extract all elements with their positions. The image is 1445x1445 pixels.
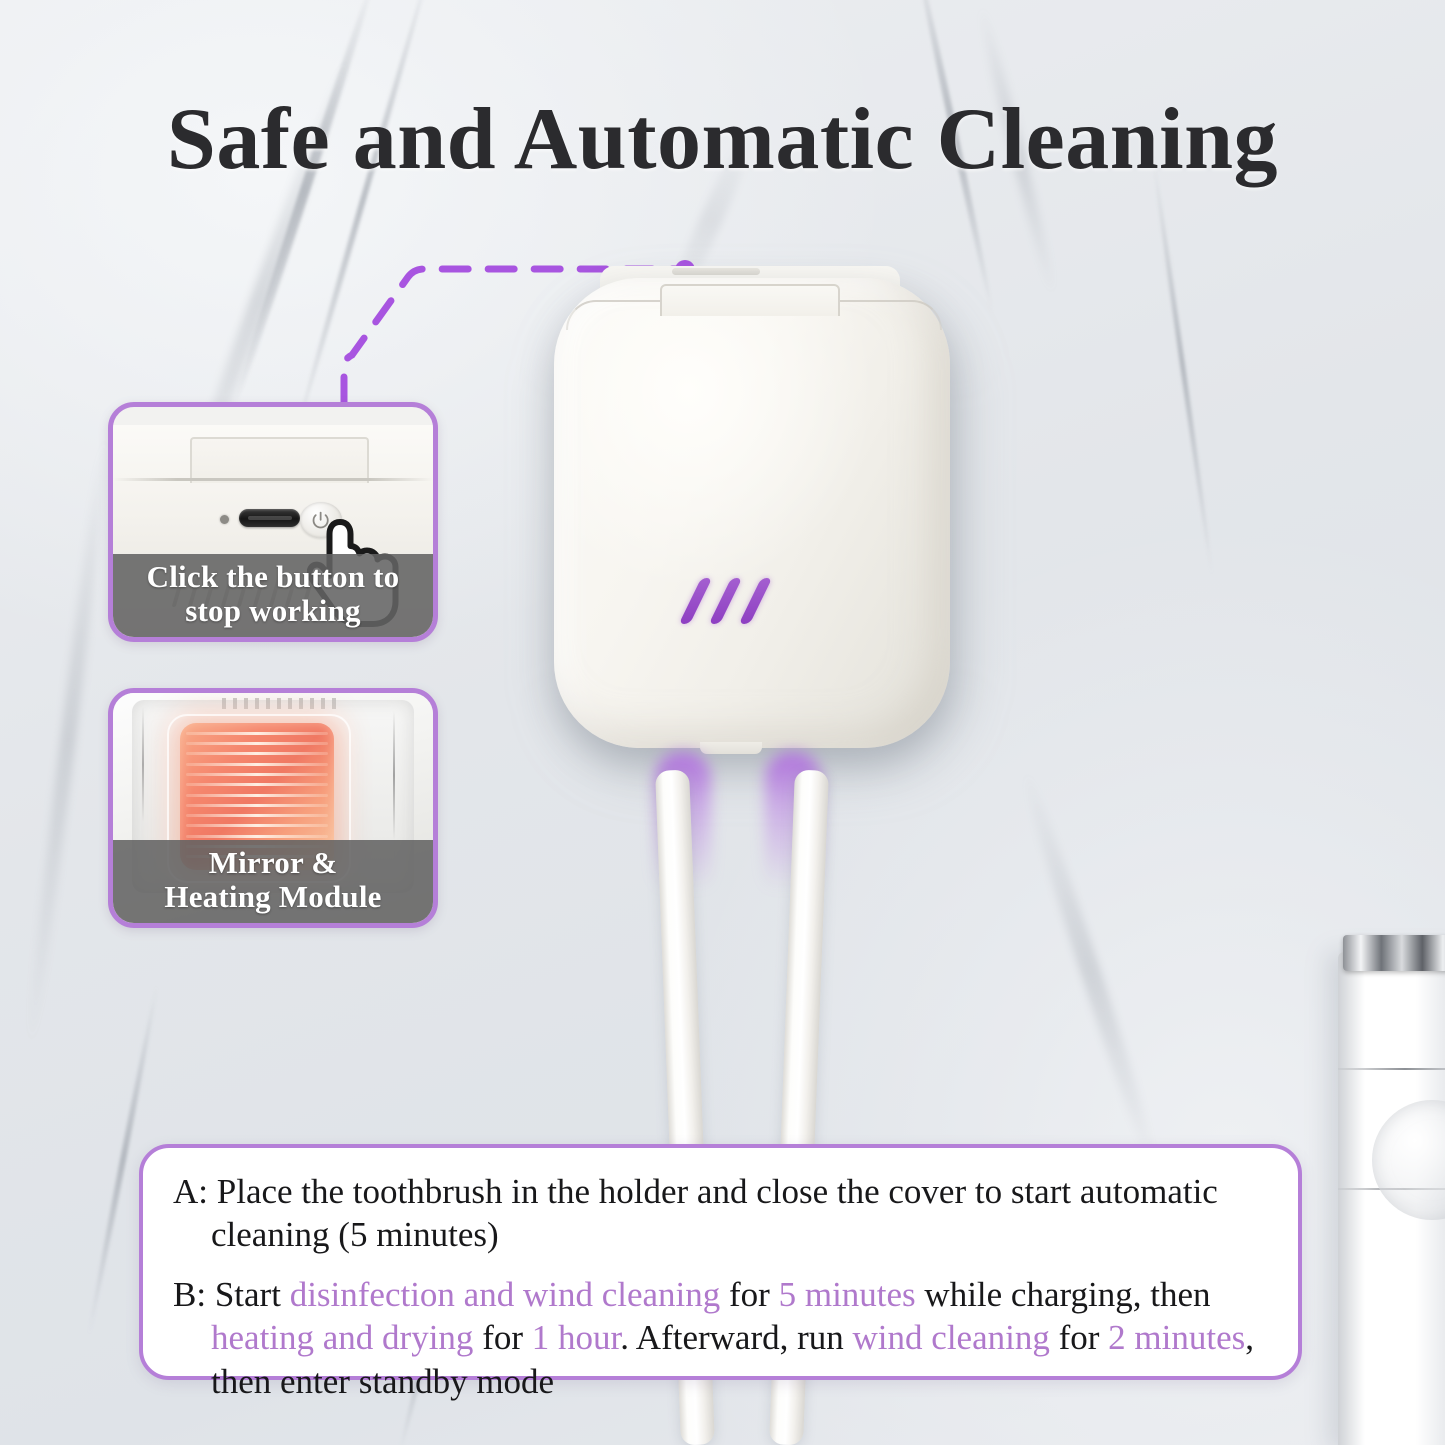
instruction-line-b: B: Start disinfection and wind cleaning … — [173, 1273, 1268, 1403]
plain-text: Start — [206, 1275, 290, 1314]
callout-power-button-caption: Click the button to stop working — [113, 554, 433, 637]
instruction-line-a: A: Place the toothbrush in the holder an… — [173, 1170, 1268, 1257]
page-title: Safe and Automatic Cleaning — [0, 96, 1445, 184]
instruction-b-label: B: — [173, 1275, 206, 1314]
plain-text: for — [1050, 1318, 1108, 1357]
bottle-chrome-cap — [1343, 935, 1445, 971]
infographic-canvas: Safe and Automatic Cleaning — [0, 0, 1445, 1445]
caption-line-1: Mirror & — [117, 846, 429, 879]
usb-c-port-icon — [239, 509, 300, 526]
caption-line-2: Heating Module — [117, 880, 429, 913]
callout-mirror-heating[interactable]: Mirror & Heating Module — [108, 688, 438, 928]
instruction-panel: A: Place the toothbrush in the holder an… — [139, 1144, 1302, 1380]
instruction-a-text: Place the toothbrush in the holder and c… — [208, 1172, 1218, 1254]
caption-line-1: Click the button to — [117, 560, 429, 593]
highlighted-term: 5 minutes — [779, 1275, 916, 1314]
toothbrush-sanitizer-device — [554, 278, 950, 748]
caption-line-2: stop working — [117, 594, 429, 627]
instruction-b-text: Start disinfection and wind cleaning for… — [206, 1275, 1254, 1401]
plain-text: . Afterward, run — [620, 1318, 852, 1357]
instruction-a-label: A: — [173, 1172, 208, 1211]
highlighted-term: 1 hour — [532, 1318, 620, 1357]
device-bottom-tab — [700, 742, 762, 754]
highlighted-term: wind cleaning — [853, 1318, 1050, 1357]
callout-mirror-heating-caption: Mirror & Heating Module — [113, 840, 433, 923]
highlighted-term: heating and drying — [211, 1318, 473, 1357]
highlighted-term: 2 minutes — [1108, 1318, 1245, 1357]
plain-text: while charging, then — [916, 1275, 1211, 1314]
device-lid-tab — [660, 284, 840, 316]
uv-slashes-icon — [690, 578, 790, 628]
device-lid-notch — [672, 268, 760, 275]
bottle-seam-upper — [1338, 1068, 1445, 1070]
callout-power-button[interactable]: Click the button to stop working — [108, 402, 438, 642]
plain-text: for — [473, 1318, 531, 1357]
plain-text: for — [720, 1275, 778, 1314]
highlighted-term: disinfection and wind cleaning — [290, 1275, 721, 1314]
plain-text: Place the toothbrush in the holder and c… — [208, 1172, 1218, 1254]
